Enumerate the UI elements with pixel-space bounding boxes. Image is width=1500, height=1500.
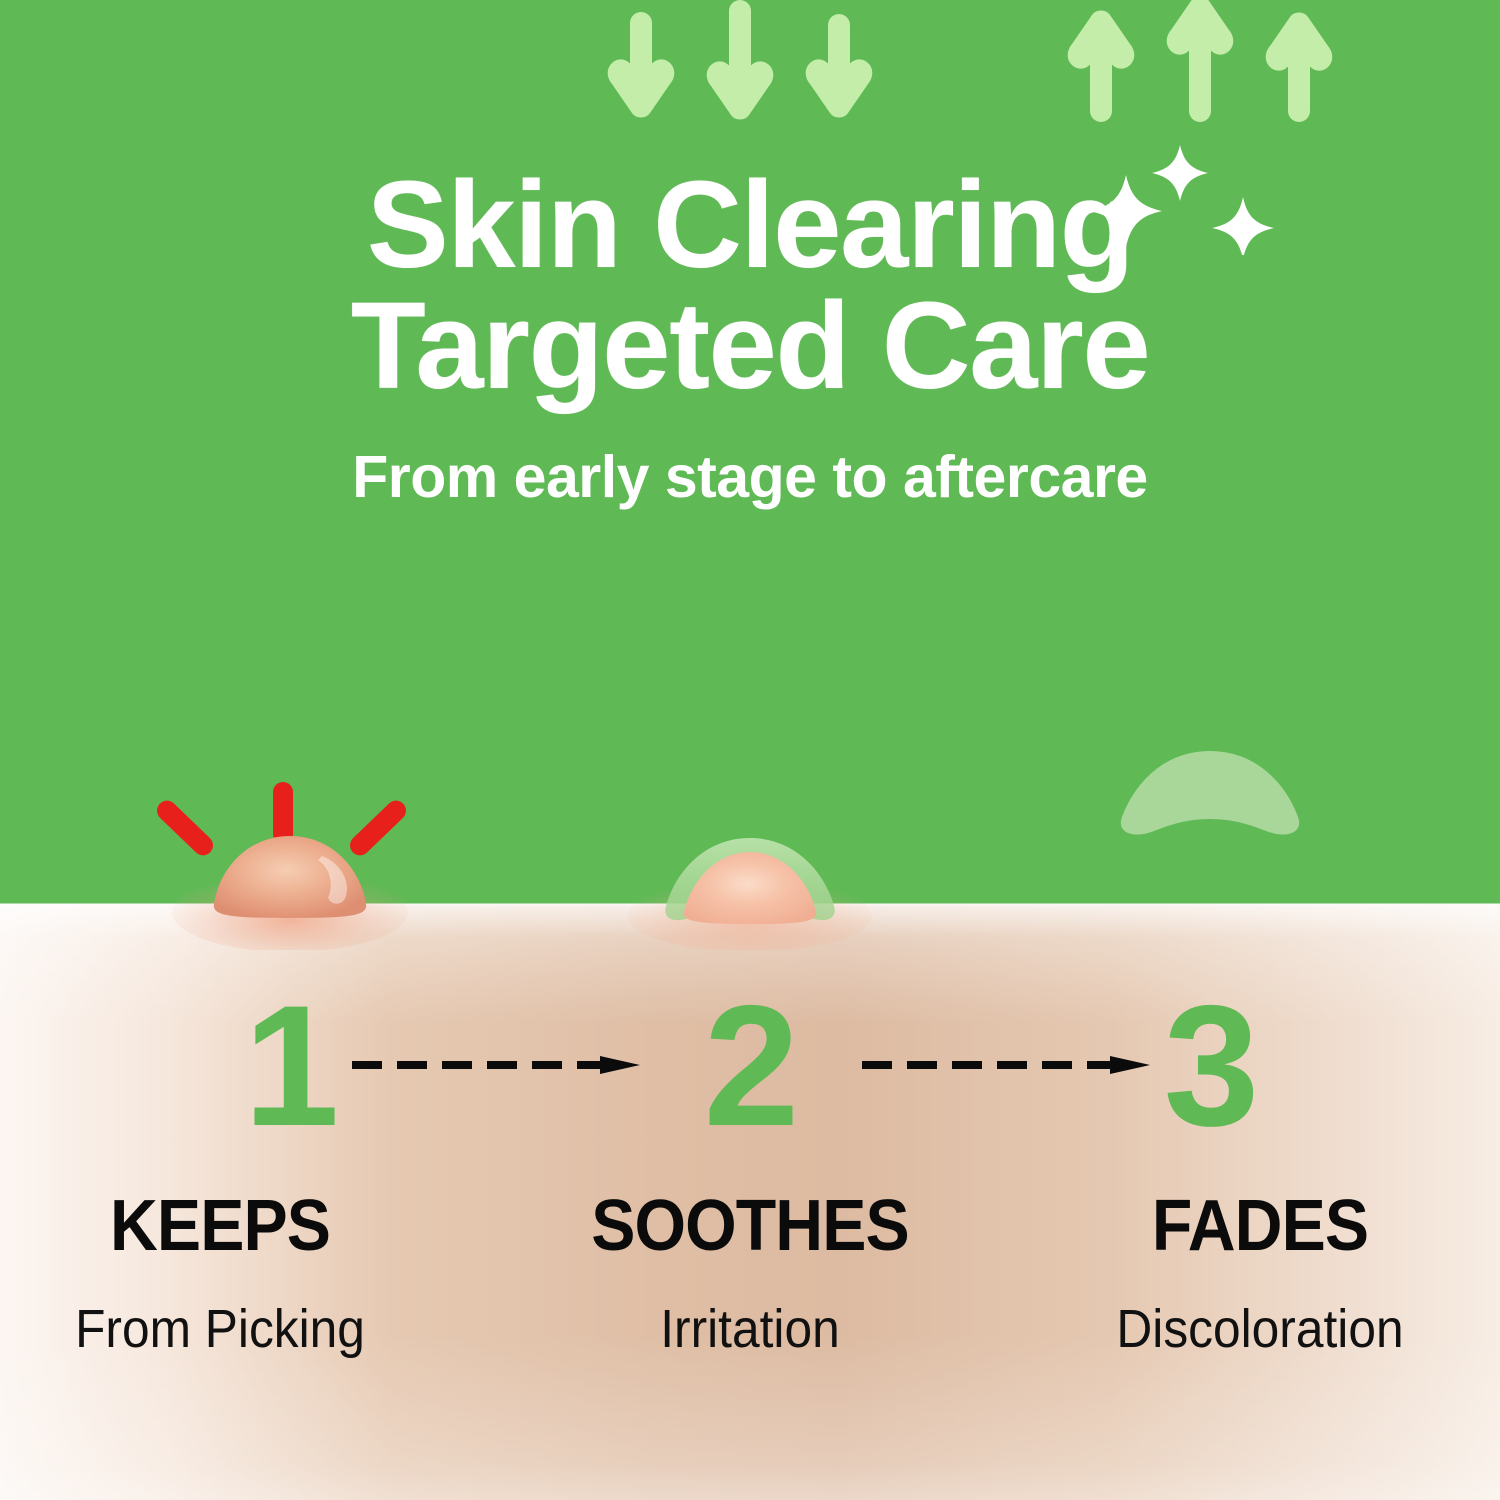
step-1-headline: KEEPS [8,1190,431,1262]
three-up-arrows-icon [1030,0,1390,130]
three-down-arrows-icon [570,0,930,130]
step-3-headline: FADES [1048,1190,1471,1262]
step-1-label: KEEPS From Picking [0,1190,450,1356]
step-2-label: SOOTHES Irritation [520,1190,980,1356]
patch-lifting-off-icon [1030,745,1390,855]
dashed-arrow-1-to-2 [352,1056,642,1074]
step-2-subline: Irritation [538,1262,961,1356]
step-3-subline: Discoloration [1048,1262,1471,1356]
step-3-label: FADES Discoloration [1030,1190,1490,1356]
step-1-subline: From Picking [8,1262,431,1356]
step-2-headline: SOOTHES [538,1190,961,1262]
dashed-arrow-2-to-3 [862,1056,1152,1074]
patch-over-pimple-icon [570,830,930,950]
infographic-poster: Skin Clearing Targeted Care From early s… [0,0,1500,1500]
inflamed-pimple-icon [110,830,470,950]
sparkle-stars-icon [1030,135,1390,255]
